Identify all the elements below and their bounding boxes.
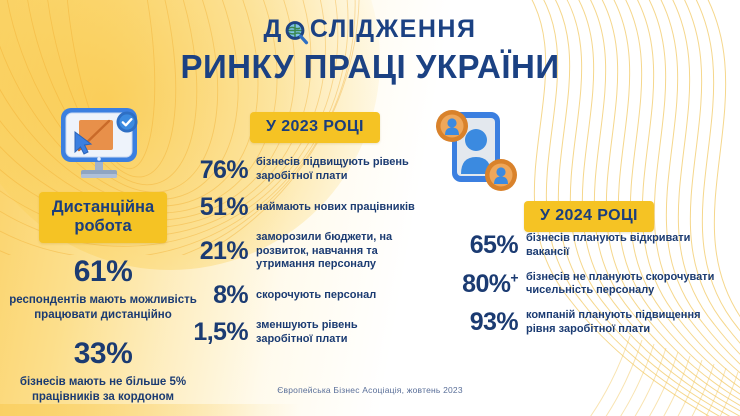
stat-row: 1,5% зменшують рівень заробітної плати (182, 319, 417, 347)
stat-value: 21% (182, 239, 256, 264)
remote-work-column: Дистанційнаробота 61% респондентів мають… (8, 104, 198, 405)
stat-description: зменшують рівень заробітної плати (256, 319, 417, 347)
stat-row: 76% бізнесів підвищують рівень заробітно… (182, 156, 417, 184)
stat-description: заморозили бюджети, на розвиток, навчанн… (256, 231, 417, 272)
stat-value-group: 80%+ (438, 272, 526, 297)
remote-work-badge-label: Дистанційнаробота (52, 198, 154, 235)
stat-value-group: 93% (438, 310, 526, 335)
people-on-phone-icon (430, 104, 522, 196)
stat-value: 1,5% (182, 320, 256, 345)
header: Д СЛІДЖЕННЯ РИНКУ ПРАЦІ УКРАЇНИ (0, 16, 740, 83)
year-2023-stat-list: 76% бізнесів підвищують рівень заробітно… (182, 156, 417, 346)
stat-value: 8% (182, 283, 256, 308)
year-2024-stat-list: 65% бізнесів планують відкривати вакансі… (438, 232, 730, 348)
stat-value: 61% (8, 257, 198, 287)
stat-value: 93% (470, 308, 518, 336)
source-attribution: Європейська Бізнес Асоціація, жовтень 20… (277, 385, 463, 395)
year-2024-column: У 2024 РОЦІ 65% бізнесів планують відкри… (430, 104, 730, 196)
background-bottom-strip (0, 404, 300, 416)
stat-row: 80%+ бізнесів не планують скорочувати чи… (438, 271, 730, 299)
remote-work-badge[interactable]: Дистанційнаробота (39, 192, 167, 243)
page-title: РИНКУ ПРАЦІ УКРАЇНИ (0, 50, 740, 83)
stat-value: 65% (470, 231, 518, 259)
stat-description: компаній планують підвищення рівня зароб… (526, 309, 730, 337)
stat-description: наймають нових працівників (256, 201, 417, 215)
remote-work-stat-1: 61% респондентів мають можливість працюв… (8, 257, 198, 322)
footer: Європейська Бізнес Асоціація, жовтень 20… (0, 380, 740, 398)
year-2023-badge-label: У 2023 РОЦІ (266, 118, 364, 135)
infographic-canvas: Д СЛІДЖЕННЯ РИНКУ ПРАЦІ УКРАЇНИ (0, 0, 740, 416)
stat-description: скорочують персонал (256, 289, 417, 303)
year-2023-column: У 2023 РОЦІ 76% бізнесів підвищують ріве… (182, 112, 417, 358)
eyebrow-text-after: СЛІДЖЕННЯ (310, 17, 477, 42)
stat-row: 8% скорочують персонал (182, 283, 417, 308)
stat-value: 76% (182, 158, 256, 183)
eyebrow-heading: Д СЛІДЖЕННЯ (264, 16, 477, 43)
stat-row: 65% бізнесів планують відкривати вакансі… (438, 232, 730, 260)
year-2023-badge[interactable]: У 2023 РОЦІ (250, 112, 380, 143)
stat-description: респондентів мають можливість працювати … (8, 293, 198, 322)
magnifier-globe-icon (283, 19, 310, 46)
stat-row: 21% заморозили бюджети, на розвиток, нав… (182, 231, 417, 272)
monitor-checkmark-icon (51, 104, 155, 186)
stat-description: бізнесів підвищують рівень заробітної пл… (256, 156, 417, 184)
stat-description: бізнесів не планують скорочувати чисельн… (526, 271, 730, 299)
stat-value: 80% (462, 270, 510, 298)
eyebrow-text-before: Д (264, 17, 283, 42)
stat-value-suffix: + (510, 269, 518, 285)
year-2024-badge[interactable]: У 2024 РОЦІ (524, 201, 654, 232)
stat-row: 51% наймають нових працівників (182, 195, 417, 220)
stat-row: 93% компаній планують підвищення рівня з… (438, 309, 730, 337)
stat-value: 51% (182, 195, 256, 220)
stat-value: 33% (8, 339, 198, 369)
year-2024-badge-label: У 2024 РОЦІ (540, 207, 638, 224)
stat-value-group: 65% (438, 233, 526, 258)
stat-description: бізнесів планують відкривати вакансії (526, 232, 730, 260)
